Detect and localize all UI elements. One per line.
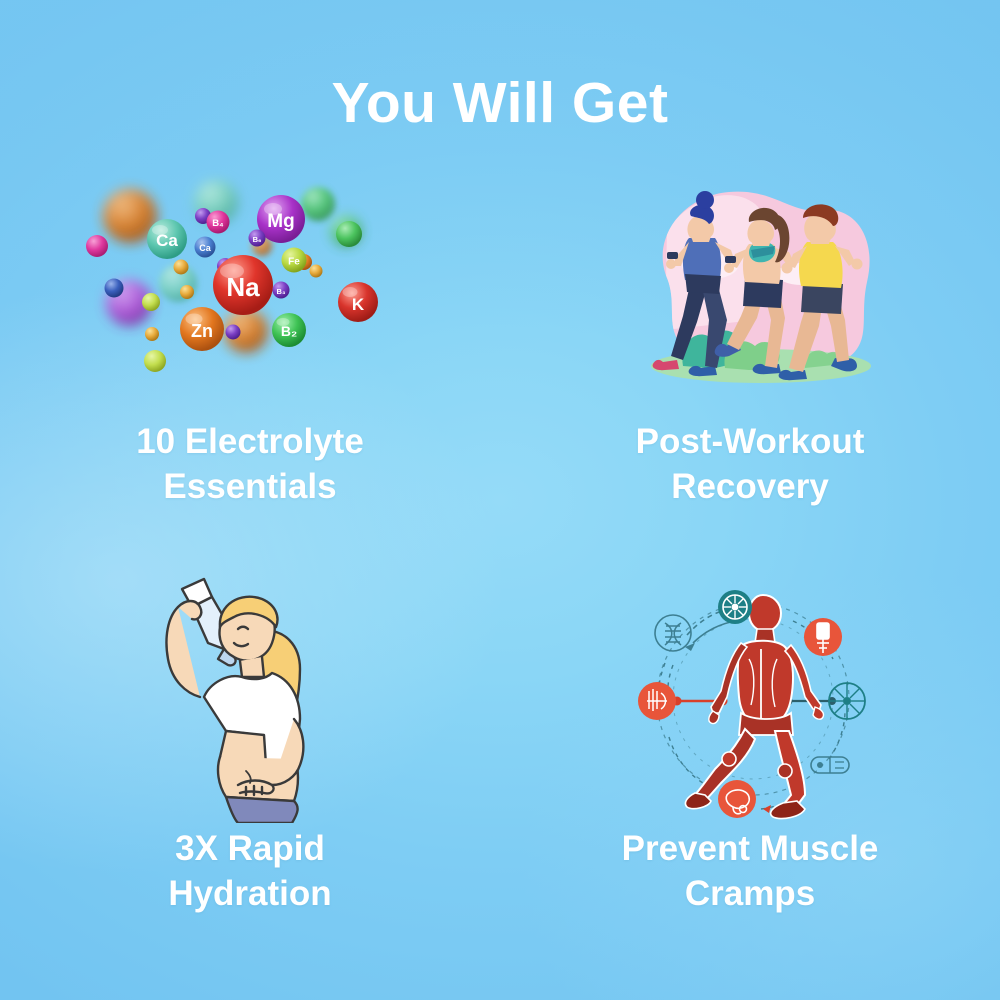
- feature-card-electrolyte-essentials: B₄ Ca Mg B₆: [0, 170, 500, 565]
- svg-text:Zn: Zn: [191, 321, 213, 341]
- mineral-bubbles-icon: B₄ Ca Mg B₆: [0, 170, 500, 428]
- feature-caption-post-workout-recovery: Post-Workout Recovery: [500, 420, 1000, 510]
- caption-line-1: 3X Rapid: [0, 827, 500, 872]
- caption-line-1: 10 Electrolyte: [0, 420, 500, 465]
- svg-text:B₆: B₆: [253, 235, 262, 244]
- feature-card-post-workout-recovery: Post-Workout Recovery: [500, 170, 1000, 565]
- caption-line-1: Prevent Muscle: [500, 827, 1000, 872]
- svg-text:Ca: Ca: [199, 243, 211, 253]
- feature-card-prevent-muscle-cramps: Prevent Muscle Cramps: [500, 565, 1000, 960]
- svg-text:Fe: Fe: [288, 257, 300, 268]
- three-runners-icon: [500, 170, 1000, 428]
- caption-line-2: Recovery: [500, 465, 1000, 510]
- feature-caption-prevent-muscle-cramps: Prevent Muscle Cramps: [500, 827, 1000, 917]
- muscle-anatomy-cycle-icon: [500, 573, 1000, 828]
- svg-text:B₃: B₃: [277, 287, 286, 296]
- svg-text:Ca: Ca: [156, 231, 178, 250]
- svg-text:B₄: B₄: [212, 218, 224, 229]
- svg-text:Na: Na: [226, 272, 260, 302]
- feature-caption-rapid-hydration: 3X Rapid Hydration: [0, 827, 500, 917]
- svg-text:Mg: Mg: [267, 211, 294, 232]
- feature-grid: B₄ Ca Mg B₆: [0, 170, 1000, 960]
- caption-line-2: Cramps: [500, 872, 1000, 917]
- caption-line-2: Essentials: [0, 465, 500, 510]
- infographic-canvas: You Will Get: [0, 0, 1000, 1000]
- caption-line-1: Post-Workout: [500, 420, 1000, 465]
- page-title: You Will Get: [0, 74, 1000, 134]
- svg-text:K: K: [352, 295, 365, 314]
- woman-drinking-water-icon: [0, 573, 500, 828]
- feature-caption-electrolyte-essentials: 10 Electrolyte Essentials: [0, 420, 500, 510]
- feature-card-rapid-hydration: 3X Rapid Hydration: [0, 565, 500, 960]
- caption-line-2: Hydration: [0, 872, 500, 917]
- svg-text:B₂: B₂: [281, 323, 297, 339]
